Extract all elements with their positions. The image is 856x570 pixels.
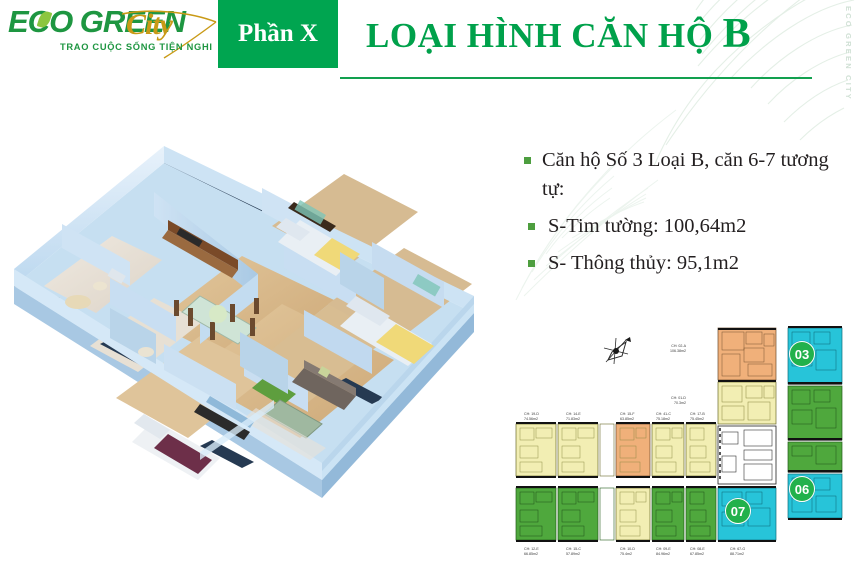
page-title: LOẠI HÌNH CĂN HỘ B [366, 10, 751, 58]
unit-label-code: CH: 01-D [671, 396, 686, 400]
unit-badge-03[interactable]: 03 [789, 341, 815, 367]
unit-label-code: CH: 08-E [690, 547, 705, 551]
unit-label-area: 74.56m2 [524, 417, 538, 421]
compass-rose-icon [604, 337, 631, 364]
unit-row-middle [516, 422, 716, 478]
brand-tagline: TRAO CUỘC SỐNG TIỆN NGHI [60, 42, 213, 52]
unit-label-area: 57.89m2 [566, 552, 580, 556]
unit-label-area: 63.85m2 [620, 417, 634, 421]
unit-label-code: CH: 15-C [566, 547, 581, 551]
unit-badge-07[interactable]: 07 [725, 498, 751, 524]
core-block [718, 426, 776, 484]
unit-label-code: CH: 12-E [524, 547, 539, 551]
section-badge-label: Phần X [238, 20, 318, 48]
unit-label-code: CH: 67-G [730, 547, 745, 551]
unit-label-area: 106.38m2 [670, 349, 686, 353]
unit-label-area: 88.71m2 [730, 552, 744, 556]
unit-label-code: CH: 02-A [671, 344, 686, 348]
bullet-square-icon [528, 223, 535, 230]
unit-label-area: 66.85m2 [524, 552, 538, 556]
unit-label-code: CH: 41-C [656, 412, 671, 416]
unit-label-area: 70.3m2 [674, 401, 686, 405]
unit-label-area: 75.18m2 [656, 417, 670, 421]
spec-item-text: S- Thông thủy: 95,1m2 [548, 252, 739, 274]
spec-item: S-Tim tường: 100,64m2 [522, 212, 842, 241]
spec-item-text: Căn hộ Số 3 Loại B, căn 6-7 tương tự: [542, 149, 829, 200]
unit-label-code: CH: 17-B [690, 412, 705, 416]
page-header: ECO GREEN City TRAO CUỘC SỐNG TIỆN NGHI … [0, 0, 856, 90]
page-title-suffix: B [723, 11, 752, 57]
section-badge: Phần X [218, 0, 338, 68]
brand-logo[interactable]: ECO GREEN City TRAO CUỘC SỐNG TIỆN NGHI [8, 6, 208, 58]
unit-label-area: 67.85m2 [690, 552, 704, 556]
apartment-3d-render [4, 108, 504, 564]
slide-root: ECO GREEN CITY ECO GREEN City TRAO CUỘC … [0, 0, 856, 570]
unit-label-area: 75.45m2 [690, 417, 704, 421]
page-title-main: LOẠI HÌNH CĂN HỘ [366, 16, 713, 55]
unit-label-area: 75.4m2 [620, 552, 632, 556]
specs-list: Căn hộ Số 3 Loại B, căn 6-7 tương tự: S-… [522, 146, 842, 286]
unit-label-code: CH: 15-F [620, 412, 635, 416]
unit-block-02A [718, 328, 776, 380]
unit-badge-06[interactable]: 06 [789, 476, 815, 502]
swoosh-icon [120, 6, 220, 62]
unit-label-area: 84.96m2 [656, 552, 670, 556]
bullet-square-icon [528, 260, 535, 267]
unit-label-code: CH: 10-D [620, 547, 635, 551]
unit-block-01D [718, 380, 776, 424]
building-keymap[interactable]: CH: 19-D 74.56m2 CH: 14-E 71.83m2 CH: 15… [512, 316, 852, 566]
unit-label-code: CH: 09-E [656, 547, 671, 551]
spec-item-text: S-Tim tường: 100,64m2 [548, 215, 746, 237]
unit-label-code: CH: 14-E [566, 412, 581, 416]
unit-label-area: 71.83m2 [566, 417, 580, 421]
bullet-square-icon [524, 157, 531, 164]
spec-item: S- Thông thủy: 95,1m2 [522, 249, 842, 278]
unit-label-code: CH: 19-D [524, 412, 539, 416]
title-divider [340, 77, 812, 79]
spec-item: Căn hộ Số 3 Loại B, căn 6-7 tương tự: [522, 146, 842, 204]
